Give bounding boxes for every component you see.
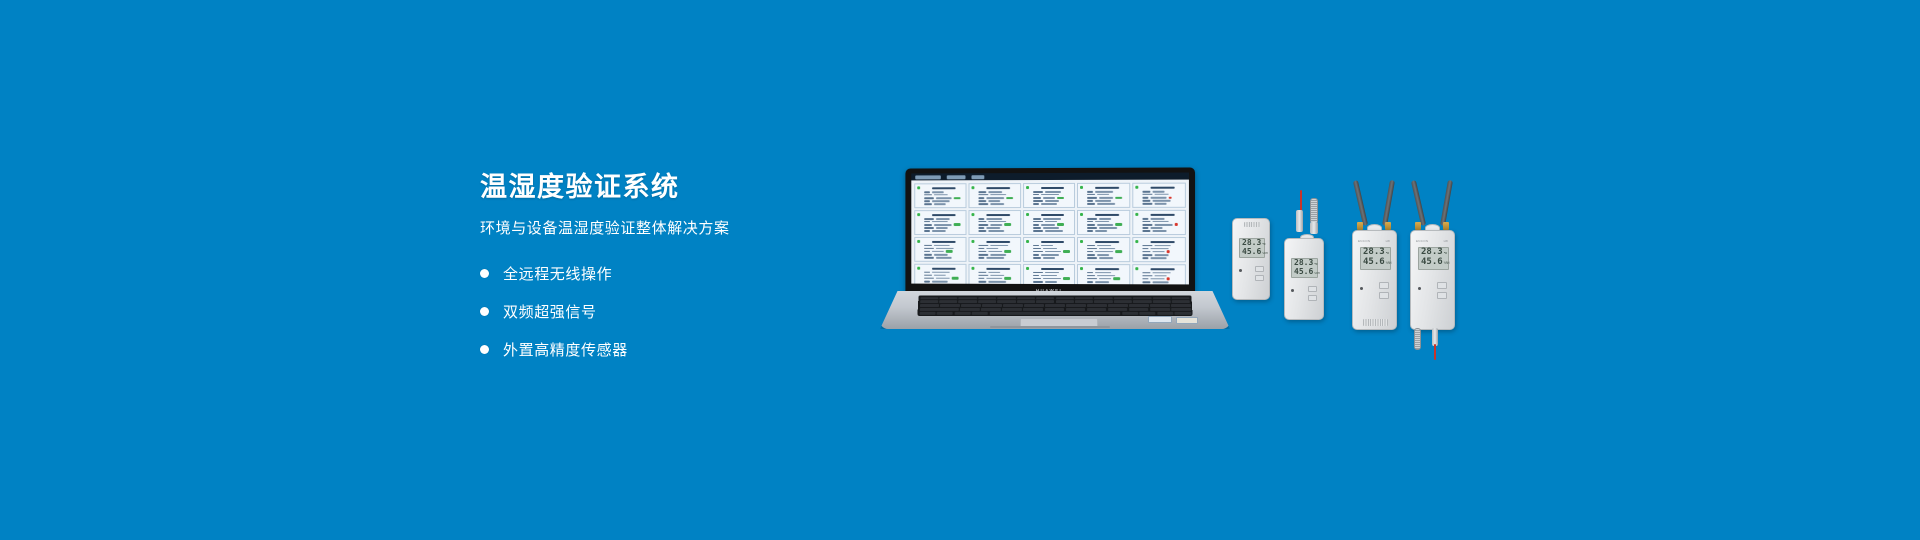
sensor-card-row bbox=[1087, 218, 1127, 220]
sensor-field-label bbox=[924, 257, 934, 259]
sensor-card[interactable] bbox=[914, 237, 966, 262]
status-led-icon bbox=[1080, 213, 1083, 216]
keyboard-key[interactable] bbox=[1139, 312, 1155, 315]
sensor-card-row bbox=[1033, 281, 1073, 283]
sensor-field-label bbox=[924, 281, 930, 283]
keyboard-key[interactable] bbox=[1157, 312, 1174, 315]
sensor-field-value bbox=[1095, 272, 1111, 274]
sensor-field-value bbox=[1153, 200, 1171, 202]
sensor-field-label bbox=[978, 224, 988, 226]
sensor-card-title bbox=[986, 268, 1010, 270]
sensor-card-row bbox=[1087, 250, 1127, 253]
sensor-card-row bbox=[1143, 272, 1183, 274]
sensor-card-row bbox=[1033, 274, 1073, 276]
sensor-field-label bbox=[1033, 278, 1041, 280]
sensor-field-value bbox=[1155, 275, 1167, 277]
lcd-temperature-value: 28.3 bbox=[1421, 248, 1443, 257]
keyboard-key[interactable] bbox=[1171, 308, 1191, 311]
sensor-field-label bbox=[924, 271, 930, 273]
sensor-card-row bbox=[1143, 221, 1183, 223]
status-led-icon bbox=[1136, 186, 1139, 189]
sensor-card-row bbox=[978, 221, 1018, 223]
keyboard-key[interactable] bbox=[989, 312, 1120, 315]
sensor-field-label bbox=[1033, 197, 1041, 199]
status-led-icon bbox=[1080, 267, 1083, 270]
sensor-field-value bbox=[934, 245, 950, 247]
sensor-card-title bbox=[1041, 268, 1065, 270]
sensor-card-title bbox=[1095, 214, 1119, 216]
keyboard-key[interactable] bbox=[940, 304, 960, 307]
sensor-card-row bbox=[924, 257, 963, 259]
sensor-field-label bbox=[1143, 248, 1149, 250]
sensor-field-label bbox=[1087, 218, 1097, 220]
probe-cable bbox=[1300, 190, 1302, 212]
sensor-card-row bbox=[924, 271, 963, 273]
sensor-field-label bbox=[978, 218, 984, 220]
sensor-field-value bbox=[936, 257, 952, 259]
sensor-field-value bbox=[1043, 278, 1061, 280]
sensor-card[interactable] bbox=[1077, 237, 1130, 262]
device-lcd-display: 28.3 ℃ 45.6 %RH bbox=[1418, 247, 1449, 270]
keyboard-key[interactable] bbox=[1114, 300, 1132, 303]
sensor-field-label bbox=[924, 274, 932, 276]
sensor-field-label bbox=[1143, 278, 1149, 280]
sensor-card-row bbox=[1087, 227, 1127, 229]
sensor-field-label bbox=[978, 257, 984, 259]
sensor-card-row bbox=[1087, 196, 1127, 199]
status-badge bbox=[1116, 223, 1123, 226]
keyboard-key[interactable] bbox=[919, 312, 936, 315]
sensor-field-value bbox=[1041, 245, 1053, 247]
sensor-card-title bbox=[1095, 241, 1119, 243]
keyboard-key[interactable] bbox=[960, 308, 980, 311]
sensor-field-value bbox=[1151, 218, 1165, 220]
keyboard-key[interactable] bbox=[1075, 297, 1093, 300]
sensor-card-row bbox=[1087, 277, 1127, 280]
keyboard-key[interactable] bbox=[1114, 297, 1132, 300]
keyboard-key[interactable] bbox=[972, 312, 988, 315]
sensor-card-row bbox=[978, 218, 1018, 220]
sensor-card-row bbox=[1033, 197, 1073, 200]
sensor-field-label bbox=[924, 191, 930, 193]
lcd-humidity-line: 45.6 %RH bbox=[1363, 258, 1388, 267]
keyboard-key[interactable] bbox=[978, 300, 996, 303]
status-badge bbox=[1004, 223, 1011, 226]
status-led-icon bbox=[971, 186, 974, 189]
sensor-field-value bbox=[986, 248, 998, 250]
lcd-humidity-unit: %RH bbox=[1444, 262, 1450, 265]
sensor-field-value bbox=[990, 203, 1004, 205]
sensor-card[interactable] bbox=[914, 263, 966, 284]
device-button-up[interactable] bbox=[1437, 282, 1447, 289]
sensor-card[interactable] bbox=[968, 210, 1020, 235]
sensor-field-label bbox=[924, 277, 934, 279]
sensor-card[interactable] bbox=[968, 264, 1020, 285]
device-lineup: 28.3 ℃ 45.6 %RH bbox=[1232, 170, 1502, 370]
keyboard-key[interactable] bbox=[1045, 304, 1065, 307]
sensor-field-value bbox=[934, 194, 948, 196]
device-button-down[interactable] bbox=[1437, 292, 1447, 299]
keyboard-key[interactable] bbox=[1002, 308, 1022, 311]
sensor-card[interactable] bbox=[968, 183, 1020, 208]
keyboard-key[interactable] bbox=[997, 300, 1015, 303]
sensor-card-title bbox=[1095, 268, 1119, 270]
keyboard-key[interactable] bbox=[1044, 308, 1064, 311]
menu-item-monitor[interactable] bbox=[915, 175, 941, 179]
sensor-card-row bbox=[1143, 275, 1183, 277]
sensor-field-label bbox=[1143, 203, 1153, 205]
sensor-card[interactable] bbox=[1077, 183, 1130, 208]
keyboard-key[interactable] bbox=[1087, 308, 1107, 311]
sensor-field-value bbox=[1097, 194, 1109, 196]
sensor-card-row bbox=[1033, 257, 1073, 259]
menu-item-data[interactable] bbox=[947, 175, 966, 179]
laptop-keyboard[interactable] bbox=[917, 295, 1192, 316]
sensor-field-value bbox=[986, 257, 1004, 259]
sensor-card-row bbox=[924, 277, 963, 280]
sensor-card[interactable] bbox=[1023, 264, 1076, 285]
status-led-icon bbox=[971, 267, 974, 270]
sensor-field-label bbox=[1087, 203, 1095, 205]
antenna-left-icon bbox=[1411, 180, 1426, 226]
keyboard-key[interactable] bbox=[1172, 297, 1190, 300]
sensor-card-row bbox=[1087, 275, 1127, 277]
sensor-card-title bbox=[1151, 187, 1175, 189]
sensor-field-value bbox=[986, 227, 1000, 229]
keyboard-key[interactable] bbox=[1017, 300, 1035, 303]
sensor-card-row bbox=[924, 221, 963, 223]
probe-sensor-mesh bbox=[1414, 328, 1421, 350]
sensor-card[interactable] bbox=[1132, 237, 1185, 262]
sensor-card-title bbox=[986, 214, 1010, 216]
sensor-field-value bbox=[936, 197, 952, 199]
keyboard-key[interactable] bbox=[1108, 308, 1128, 311]
keyboard-key[interactable] bbox=[961, 304, 981, 307]
sensor-card-row bbox=[978, 272, 1018, 274]
sensor-card-row bbox=[1087, 200, 1127, 202]
sensor-field-label bbox=[978, 227, 984, 229]
sensor-field-value bbox=[1155, 203, 1167, 205]
sensor-card-title bbox=[986, 187, 1010, 189]
status-led-icon bbox=[917, 240, 920, 243]
status-led-icon bbox=[1136, 267, 1139, 270]
keyboard-key[interactable] bbox=[1153, 300, 1171, 303]
sensor-field-value bbox=[1155, 245, 1171, 247]
vent-icon bbox=[1244, 222, 1260, 227]
keyboard-key[interactable] bbox=[978, 297, 996, 300]
keyboard-key[interactable] bbox=[919, 304, 939, 307]
keyboard-key[interactable] bbox=[920, 297, 938, 300]
status-led-icon bbox=[1026, 267, 1029, 270]
lcd-temperature-value: 28.3 bbox=[1294, 259, 1313, 267]
lcd-temperature-unit: ℃ bbox=[1444, 252, 1448, 255]
sensor-card-row bbox=[1087, 203, 1127, 205]
sensor-field-label bbox=[1143, 194, 1153, 196]
status-led-icon bbox=[1136, 213, 1139, 216]
laptop-sticker-spec bbox=[1148, 316, 1172, 323]
sensor-card-row bbox=[1143, 254, 1183, 256]
sensor-field-label bbox=[1033, 191, 1043, 193]
device-button-down[interactable] bbox=[1255, 275, 1264, 281]
sensor-card-title bbox=[1095, 187, 1119, 189]
sensor-field-label bbox=[1087, 275, 1095, 277]
sensor-card[interactable] bbox=[1077, 264, 1130, 285]
promo-banner: 温湿度验证系统 环境与设备温湿度验证整体解决方案 全远程无线操作 双频超强信号 … bbox=[0, 0, 1920, 540]
keyboard-key[interactable] bbox=[981, 308, 1001, 311]
device-button-down[interactable] bbox=[1379, 292, 1389, 299]
lcd-humidity-value: 45.6 bbox=[1363, 258, 1385, 267]
sensor-field-value bbox=[1041, 224, 1055, 226]
sensor-field-label bbox=[1143, 275, 1153, 277]
sensor-field-label bbox=[1087, 200, 1093, 202]
keyboard-key[interactable] bbox=[1172, 300, 1190, 303]
sensor-card-row bbox=[1143, 196, 1183, 199]
sensor-card[interactable] bbox=[1023, 237, 1076, 262]
sensor-card[interactable] bbox=[1023, 210, 1076, 235]
sensor-card-row bbox=[924, 254, 963, 256]
status-badge bbox=[1116, 196, 1123, 199]
lcd-temperature-line: 28.3 ℃ bbox=[1421, 248, 1446, 257]
keyboard-key[interactable] bbox=[982, 304, 1002, 307]
keyboard-key[interactable] bbox=[1171, 304, 1191, 307]
keyboard-key[interactable] bbox=[1129, 308, 1149, 311]
lcd-temperature-unit: ℃ bbox=[1386, 252, 1390, 255]
sensor-field-label bbox=[1087, 230, 1093, 232]
sensor-field-value bbox=[936, 218, 950, 220]
device-indicator-led bbox=[1291, 289, 1294, 292]
keyboard-key[interactable] bbox=[1087, 304, 1107, 307]
sensor-field-label bbox=[978, 194, 988, 196]
keyboard-key[interactable] bbox=[954, 312, 970, 315]
keyboard-key[interactable] bbox=[1017, 297, 1035, 300]
sensor-field-value bbox=[990, 224, 1002, 226]
keyboard-key[interactable] bbox=[958, 300, 976, 303]
sensor-card-row bbox=[978, 197, 1018, 200]
status-badge bbox=[1116, 250, 1123, 253]
sensor-card-row bbox=[924, 227, 963, 229]
sensor-field-label bbox=[1033, 254, 1039, 256]
sensor-field-label bbox=[1143, 218, 1149, 220]
sensor-card-row bbox=[1033, 203, 1073, 205]
sensor-card-row bbox=[1033, 221, 1073, 223]
status-led-icon bbox=[1026, 186, 1029, 189]
keyboard-key[interactable] bbox=[939, 300, 957, 303]
device-label-left: ENCON bbox=[1358, 239, 1370, 243]
keyboard-key[interactable] bbox=[920, 300, 938, 303]
keyboard-key[interactable] bbox=[1024, 304, 1044, 307]
sensor-card-row bbox=[924, 203, 963, 205]
sensor-field-value bbox=[1151, 227, 1163, 229]
keyboard-key[interactable] bbox=[937, 312, 954, 315]
lcd-humidity-value: 45.6 bbox=[1294, 268, 1313, 276]
lcd-temperature-unit: ℃ bbox=[1314, 263, 1317, 266]
sensor-field-value bbox=[932, 281, 948, 283]
sensor-field-value bbox=[1151, 197, 1167, 199]
keyboard-key[interactable] bbox=[1152, 297, 1170, 300]
alarm-badge bbox=[1167, 278, 1170, 281]
sensor-card[interactable] bbox=[1077, 210, 1130, 235]
sensor-field-label bbox=[1143, 281, 1151, 283]
device-lcd-display: 28.3 ℃ 45.6 %RH bbox=[1239, 238, 1265, 258]
status-led-icon bbox=[1026, 240, 1029, 243]
sensor-card-row bbox=[1143, 230, 1183, 232]
keyboard-key[interactable] bbox=[1056, 300, 1074, 303]
sensor-card-row bbox=[1087, 191, 1127, 193]
keyboard-key[interactable] bbox=[1036, 297, 1054, 300]
sensor-card[interactable] bbox=[914, 183, 966, 208]
keyboard-key[interactable] bbox=[1056, 297, 1074, 300]
laptop-sticker-label bbox=[1176, 317, 1198, 324]
keyboard-row bbox=[920, 300, 1191, 303]
sensor-field-value bbox=[988, 200, 1000, 202]
status-led-icon bbox=[1080, 240, 1083, 243]
keyboard-key[interactable] bbox=[1133, 300, 1151, 303]
sensor-card-row bbox=[1143, 248, 1183, 250]
probe-connector bbox=[1296, 210, 1303, 232]
device-body: 28.3 ℃ 45.6 %RH bbox=[1232, 218, 1270, 300]
sensor-field-label bbox=[1143, 245, 1153, 247]
sensor-field-value bbox=[1045, 200, 1059, 202]
device-compact-logger-left: 28.3 ℃ 45.6 %RH bbox=[1232, 218, 1270, 300]
device-button-up[interactable] bbox=[1255, 266, 1264, 272]
probe-sensor-mesh bbox=[1310, 198, 1318, 224]
laptop-illustration: HUAWEI bbox=[880, 168, 1230, 328]
sensor-card-row bbox=[1143, 191, 1183, 193]
sensor-field-label bbox=[924, 221, 930, 223]
device-button-up[interactable] bbox=[1308, 286, 1317, 292]
list-item: 外置高精度传感器 bbox=[480, 336, 900, 362]
keyboard-key[interactable] bbox=[1066, 308, 1086, 311]
sensor-card-row bbox=[1087, 221, 1127, 223]
keyboard-key[interactable] bbox=[1133, 297, 1151, 300]
keyboard-key[interactable] bbox=[1023, 308, 1043, 311]
sensor-card[interactable] bbox=[968, 237, 1020, 262]
sensor-card[interactable] bbox=[1132, 210, 1185, 235]
sensor-field-label bbox=[1143, 197, 1149, 199]
keyboard-key[interactable] bbox=[1036, 300, 1054, 303]
sensor-field-label bbox=[924, 247, 934, 249]
keyboard-key[interactable] bbox=[1129, 304, 1149, 307]
lcd-temperature-line: 28.3 ℃ bbox=[1294, 259, 1315, 267]
lcd-humidity-line: 45.6 %RH bbox=[1242, 248, 1262, 256]
sensor-field-value bbox=[1099, 248, 1115, 250]
device-lcd-display: 28.3 ℃ 45.6 %RH bbox=[1291, 258, 1318, 278]
sensor-field-value bbox=[1153, 191, 1165, 193]
antenna-left-icon bbox=[1353, 180, 1368, 226]
keyboard-key[interactable] bbox=[1066, 304, 1086, 307]
sensor-card[interactable] bbox=[1132, 183, 1185, 208]
lcd-temperature-line: 28.3 ℃ bbox=[1363, 248, 1388, 257]
sensor-card[interactable] bbox=[1132, 264, 1185, 285]
alarm-badge bbox=[1175, 223, 1178, 226]
sensor-field-value bbox=[1151, 278, 1165, 280]
sensor-field-value bbox=[1041, 274, 1057, 276]
keyboard-key[interactable] bbox=[1174, 312, 1191, 315]
sensor-card-row bbox=[978, 203, 1018, 205]
sensor-field-label bbox=[1033, 230, 1043, 232]
sensor-field-label bbox=[1087, 281, 1093, 283]
keyboard-key[interactable] bbox=[1075, 300, 1093, 303]
sensor-field-value bbox=[1151, 248, 1169, 250]
sensor-field-label bbox=[1143, 272, 1151, 274]
sensor-field-label bbox=[1087, 248, 1097, 250]
sensor-field-label bbox=[1033, 224, 1039, 226]
list-item: 全远程无线操作 bbox=[480, 260, 900, 286]
keyboard-key[interactable] bbox=[1094, 297, 1112, 300]
keyboard-key[interactable] bbox=[939, 297, 957, 300]
device-button-up[interactable] bbox=[1379, 282, 1389, 289]
sensor-field-value bbox=[932, 230, 946, 232]
keyboard-key[interactable] bbox=[1150, 308, 1170, 311]
keyboard-key[interactable] bbox=[919, 308, 959, 311]
keyboard-key[interactable] bbox=[1003, 304, 1023, 307]
sensor-field-value bbox=[934, 224, 952, 226]
lcd-humidity-value: 45.6 bbox=[1421, 258, 1443, 267]
sensor-card-row bbox=[1033, 191, 1073, 193]
sensor-field-value bbox=[1155, 194, 1169, 196]
sensor-field-value bbox=[1045, 251, 1061, 253]
sensor-field-label bbox=[1143, 221, 1151, 223]
sensor-field-label bbox=[1087, 254, 1095, 256]
menu-item-settings[interactable] bbox=[971, 175, 984, 179]
keyboard-key[interactable] bbox=[1094, 300, 1112, 303]
sensor-field-value bbox=[1041, 194, 1059, 196]
lcd-humidity-line: 45.6 %RH bbox=[1421, 258, 1446, 267]
status-badge bbox=[1057, 223, 1064, 226]
status-led-icon bbox=[917, 186, 920, 189]
device-button-down[interactable] bbox=[1308, 295, 1317, 301]
sensor-field-label bbox=[978, 272, 986, 274]
sensor-field-value bbox=[986, 278, 1002, 280]
sensor-field-value bbox=[1153, 272, 1171, 274]
sensor-field-value bbox=[932, 271, 950, 273]
sensor-card-row bbox=[978, 277, 1018, 280]
status-badge bbox=[946, 250, 953, 253]
sensor-field-label bbox=[924, 227, 934, 229]
sensor-field-value bbox=[1097, 275, 1115, 277]
keyboard-key[interactable] bbox=[1150, 304, 1170, 307]
keyboard-key[interactable] bbox=[997, 297, 1015, 300]
sensor-field-value bbox=[1155, 254, 1169, 256]
sensor-card-title bbox=[1041, 241, 1065, 243]
sensor-card-row bbox=[1033, 223, 1073, 226]
lcd-temperature-value: 28.3 bbox=[1363, 248, 1385, 257]
sensor-field-label bbox=[924, 218, 934, 220]
antenna-right-base bbox=[1385, 222, 1391, 230]
sensor-field-label bbox=[924, 203, 932, 205]
keyboard-row bbox=[920, 297, 1190, 300]
sensor-field-label bbox=[978, 230, 986, 232]
sensor-field-value bbox=[990, 274, 1004, 276]
sensor-card[interactable] bbox=[914, 210, 966, 235]
sensor-field-value bbox=[1043, 227, 1059, 229]
sensor-card[interactable] bbox=[1023, 183, 1076, 208]
sensor-field-label bbox=[978, 281, 986, 283]
sensor-field-label bbox=[924, 201, 930, 203]
sensor-field-value bbox=[990, 194, 1006, 196]
sensor-card-row bbox=[978, 248, 1018, 250]
keyboard-key[interactable] bbox=[1122, 312, 1138, 315]
sensor-field-value bbox=[932, 221, 948, 223]
sensor-card-row bbox=[924, 218, 963, 220]
sensor-card-row bbox=[1033, 227, 1073, 229]
sensor-field-value bbox=[936, 247, 954, 249]
keyboard-key[interactable] bbox=[959, 297, 977, 300]
keyboard-key[interactable] bbox=[1108, 304, 1128, 307]
status-badge bbox=[1004, 250, 1011, 253]
sensor-card-row bbox=[924, 197, 963, 200]
sensor-card-row bbox=[1143, 281, 1183, 283]
